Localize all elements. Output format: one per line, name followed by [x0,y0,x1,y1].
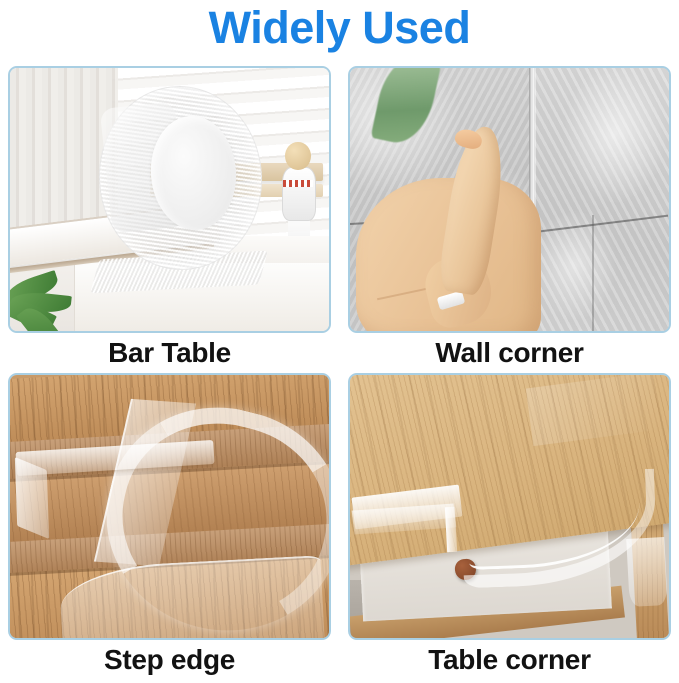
tape-roll [99,86,262,270]
panel-grid: Bar Table [8,66,671,678]
grout-line-vertical [592,215,594,331]
marble-tile-right [534,68,669,331]
scene-table-corner [350,375,669,638]
panel-table-corner[interactable]: Table corner [348,373,671,678]
corner-guard-joint [445,506,457,551]
page-title: Widely Used [0,0,679,56]
panel-wall-corner[interactable]: Wall corner [348,66,671,371]
scene-step-edge [10,375,329,638]
photo-table-corner[interactable] [348,373,671,640]
scene-bar-table [10,68,329,331]
astronaut-figurine [278,142,319,226]
tape-lip [15,457,49,539]
caption-step-edge: Step edge [8,642,331,678]
infographic-page: Widely Used [0,0,679,683]
photo-step-edge[interactable] [8,373,331,640]
astronaut-stripe [283,180,313,187]
photo-bar-table[interactable] [8,66,331,333]
scene-wall-corner [350,68,669,331]
panel-step-edge[interactable]: Step edge [8,373,331,678]
astronaut-body [282,167,316,221]
astronaut-head [285,142,311,171]
caption-wall-corner: Wall corner [348,335,671,371]
photo-wall-corner[interactable] [348,66,671,333]
caption-bar-table: Bar Table [8,335,331,371]
potted-plant [8,263,80,333]
panel-bar-table[interactable]: Bar Table [8,66,331,371]
corner-guard-right [626,537,668,607]
caption-table-corner: Table corner [348,642,671,678]
